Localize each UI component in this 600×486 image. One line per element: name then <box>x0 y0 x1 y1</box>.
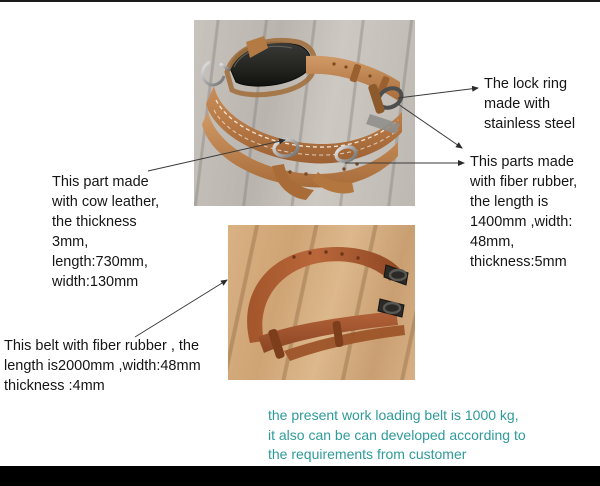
callout-lock-ring: The lock ring made with stainless steel <box>484 74 600 134</box>
callout-fiber-rubber-parts: This parts made with fiber rubber, the l… <box>470 152 600 272</box>
fiber-rubber-belt-photo <box>228 225 415 380</box>
load-capacity-note: the present work loading belt is 1000 kg… <box>268 406 598 465</box>
fiber-belt-illustration <box>228 225 415 380</box>
product-spec-slide: This part made with cow leather, the thi… <box>0 0 600 486</box>
belt-illustration <box>194 20 415 206</box>
callout-cow-leather: This part made with cow leather, the thi… <box>52 172 212 292</box>
work-positioning-belt-photo <box>194 20 415 206</box>
callout-fiber-rubber-belt: This belt with fiber rubber , the length… <box>4 336 256 396</box>
bottom-black-bar <box>0 466 600 486</box>
top-divider-rule <box>0 0 600 2</box>
